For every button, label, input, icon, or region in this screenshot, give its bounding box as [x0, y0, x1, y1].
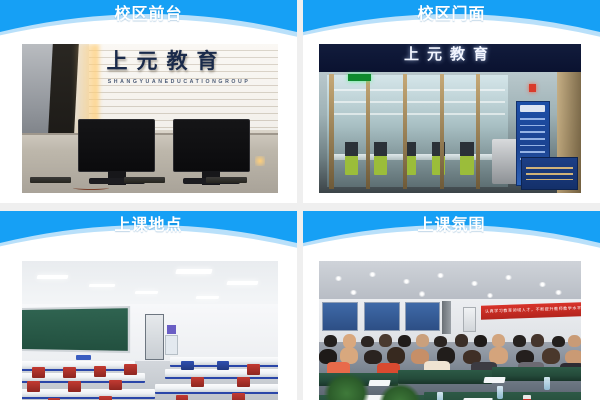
lecture-water-bottle-3 [497, 386, 503, 400]
campus-gallery-grid: 校区前台 上元教育 SHANGYUANEDUCATIONGROUP [0, 0, 600, 400]
reception-keyboard-1 [30, 177, 71, 183]
campus-storefront-photo[interactable]: 上元教育 [319, 44, 581, 193]
classroom-chair-red-13 [176, 395, 189, 400]
classroom-chair-red-8 [109, 380, 122, 391]
classroom-door-poster [167, 325, 176, 334]
reception-keyboard-3 [206, 177, 247, 183]
standing-banner-line-6 [520, 151, 544, 153]
storefront-chair-2 [374, 156, 387, 175]
reception-monitor-left [78, 119, 155, 173]
gallery-cell-class-location: 上课地点 [0, 203, 297, 400]
lecture-wall-banner: 认真学习教育领域人才，不断提升教师教学水平 [481, 302, 581, 319]
storefront-mullion-4 [440, 74, 444, 189]
standing-banner-line-4 [520, 138, 544, 140]
lecture-ceiling-spot-9 [419, 291, 426, 296]
lecture-blue-panel-1 [322, 302, 359, 331]
classroom-chair-blue-1 [181, 361, 194, 370]
reception-keyboard-2 [124, 177, 165, 183]
classroom-chair-red-6 [27, 381, 40, 392]
class-location-banner: 上课地点 [0, 211, 297, 251]
classroom-ceiling-light-3 [134, 291, 158, 294]
standing-banner-line-1 [520, 118, 544, 120]
reception-monitor-right [173, 119, 250, 173]
storefront-mullion-1 [329, 74, 333, 189]
storefront-mullion-3 [403, 74, 407, 189]
reception-box-line-3 [526, 179, 573, 181]
classroom-chair-red-7 [68, 381, 81, 392]
classroom-chair-red-2 [63, 367, 76, 378]
storefront-chair-5 [460, 156, 473, 175]
standing-banner-line-2 [520, 125, 544, 127]
reception-wall-logo-cn: 上元教育 [106, 51, 226, 72]
classroom-ceiling-light-5 [226, 281, 258, 285]
classroom-chair-red-5 [247, 364, 260, 375]
classroom-ceiling-light-6 [196, 296, 220, 299]
classroom-front-desk-item [76, 355, 91, 360]
classroom-chair-red-12 [99, 396, 112, 400]
storefront-mullion-5 [476, 74, 480, 189]
class-location-card[interactable]: 上课地点 [0, 211, 297, 400]
classroom-chair-blue-2 [217, 361, 230, 370]
reception-warm-lamp [255, 156, 265, 166]
reception-box-line-2 [526, 173, 573, 175]
classroom-door [145, 314, 164, 360]
classroom-desk-row-4 [165, 369, 278, 379]
gallery-cell-class-atmosphere: 上课氛围 [297, 203, 600, 400]
lecture-hall-photo-content: 认真学习教育领域人才，不断提升教师教学水平 [319, 261, 581, 400]
lecture-ceiling-spot-2 [369, 272, 376, 277]
classroom-chair-red-1 [32, 367, 45, 378]
lecture-hall-photo[interactable]: 认真学习教育领域人才，不断提升教师教学水平 [319, 261, 581, 400]
classroom-chair-red-9 [191, 377, 204, 388]
standing-banner-line-3 [520, 131, 544, 133]
classroom-ceiling-light-2 [88, 284, 114, 287]
campus-storefront-title: 校区门面 [303, 4, 600, 26]
storefront-exit-sign [348, 74, 372, 81]
storefront-reception-box [521, 157, 579, 190]
classroom-wall-notice [165, 335, 178, 355]
classroom-chair-red-3 [94, 366, 107, 377]
class-atmosphere-card[interactable]: 上课氛围 [303, 211, 600, 400]
storefront-turnstile [492, 139, 518, 184]
lecture-table-3 [492, 367, 581, 381]
class-location-title: 上课地点 [0, 215, 297, 237]
lecture-wall-banner-text: 认真学习教育领域人才，不断提升教师教学水平 [485, 305, 581, 314]
lecture-person-head [542, 348, 560, 364]
classroom-chair-red-10 [237, 377, 250, 388]
lecture-blue-panel-2 [364, 302, 401, 331]
classroom-desk-row-5 [22, 389, 155, 399]
lecture-blue-panel-3 [405, 302, 439, 331]
class-atmosphere-title: 上课氛围 [303, 215, 600, 237]
lecture-ceiling-spot-6 [505, 275, 512, 280]
lecture-water-bottle-4 [544, 377, 550, 391]
campus-storefront-photo-content: 上元教育 [319, 44, 581, 193]
lecture-plant-1 [324, 373, 369, 400]
lecture-person-head [387, 347, 405, 364]
reception-wall-logo-en: SHANGYUANEDUCATIONGROUP [108, 80, 251, 85]
classroom-chair-red-4 [124, 364, 137, 375]
reception-box-line-1 [526, 167, 573, 169]
classroom-blackboard [22, 306, 130, 353]
storefront-sign-text: 上元教育 [319, 45, 581, 64]
gallery-cell-campus-reception: 校区前台 上元教育 SHANGYUANEDUCATIONGROUP [0, 0, 297, 203]
classroom-chair-red-14 [232, 393, 245, 400]
campus-reception-photo[interactable]: 上元教育 SHANGYUANEDUCATIONGROUP [22, 44, 278, 193]
campus-reception-photo-content: 上元教育 SHANGYUANEDUCATIONGROUP [22, 44, 278, 193]
classroom-ceiling-light-1 [37, 275, 69, 279]
lecture-ceiling-spot-5 [471, 281, 478, 286]
campus-reception-banner: 校区前台 [0, 0, 297, 40]
lecture-person-head [364, 350, 382, 364]
classroom-desk-row-6 [155, 384, 278, 394]
classroom-photo[interactable] [22, 261, 278, 400]
campus-storefront-card[interactable]: 校区门面 上元教育 [303, 0, 600, 203]
lecture-person-head [565, 350, 581, 364]
lecture-ceiling [319, 261, 581, 301]
storefront-chair-1 [345, 156, 358, 175]
lecture-plant-2 [379, 383, 421, 400]
classroom-ceiling-light-4 [175, 269, 212, 274]
lecture-ceiling-spot-1 [335, 276, 342, 281]
standing-banner-line-5 [520, 145, 544, 147]
campus-reception-card[interactable]: 校区前台 上元教育 SHANGYUANEDUCATIONGROUP [0, 0, 297, 203]
lecture-paper-6 [483, 377, 505, 383]
standing-banner-logo [520, 105, 546, 112]
lecture-red-cup [523, 395, 531, 400]
lecture-water-bottle-2 [437, 392, 443, 400]
campus-reception-title: 校区前台 [0, 4, 297, 26]
lecture-ceiling-spot-11 [555, 290, 562, 295]
class-atmosphere-banner: 上课氛围 [303, 211, 600, 251]
storefront-red-lamp [529, 84, 537, 91]
campus-storefront-banner: 校区门面 [303, 0, 600, 40]
storefront-mullion-2 [366, 74, 370, 189]
classroom-photo-content [22, 261, 278, 400]
gallery-cell-campus-storefront: 校区门面 上元教育 [297, 0, 600, 203]
